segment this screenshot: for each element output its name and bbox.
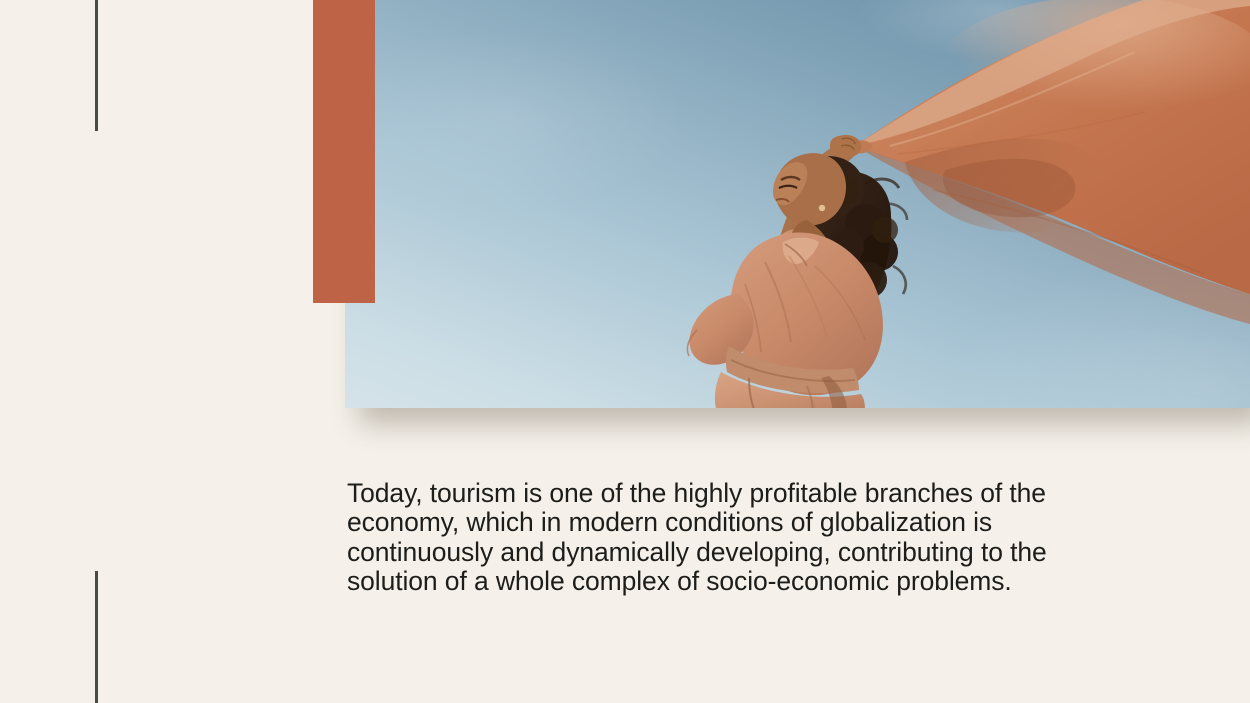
- decorative-rule-top: [95, 0, 98, 131]
- decorative-rule-bottom: [95, 571, 98, 703]
- body-paragraph: Today, tourism is one of the highly prof…: [347, 479, 1107, 597]
- accent-block: [313, 0, 375, 303]
- hero-photo: [345, 0, 1250, 408]
- slide-canvas: Today, tourism is one of the highly prof…: [0, 0, 1250, 703]
- woman-figure-graphic: [345, 0, 1250, 408]
